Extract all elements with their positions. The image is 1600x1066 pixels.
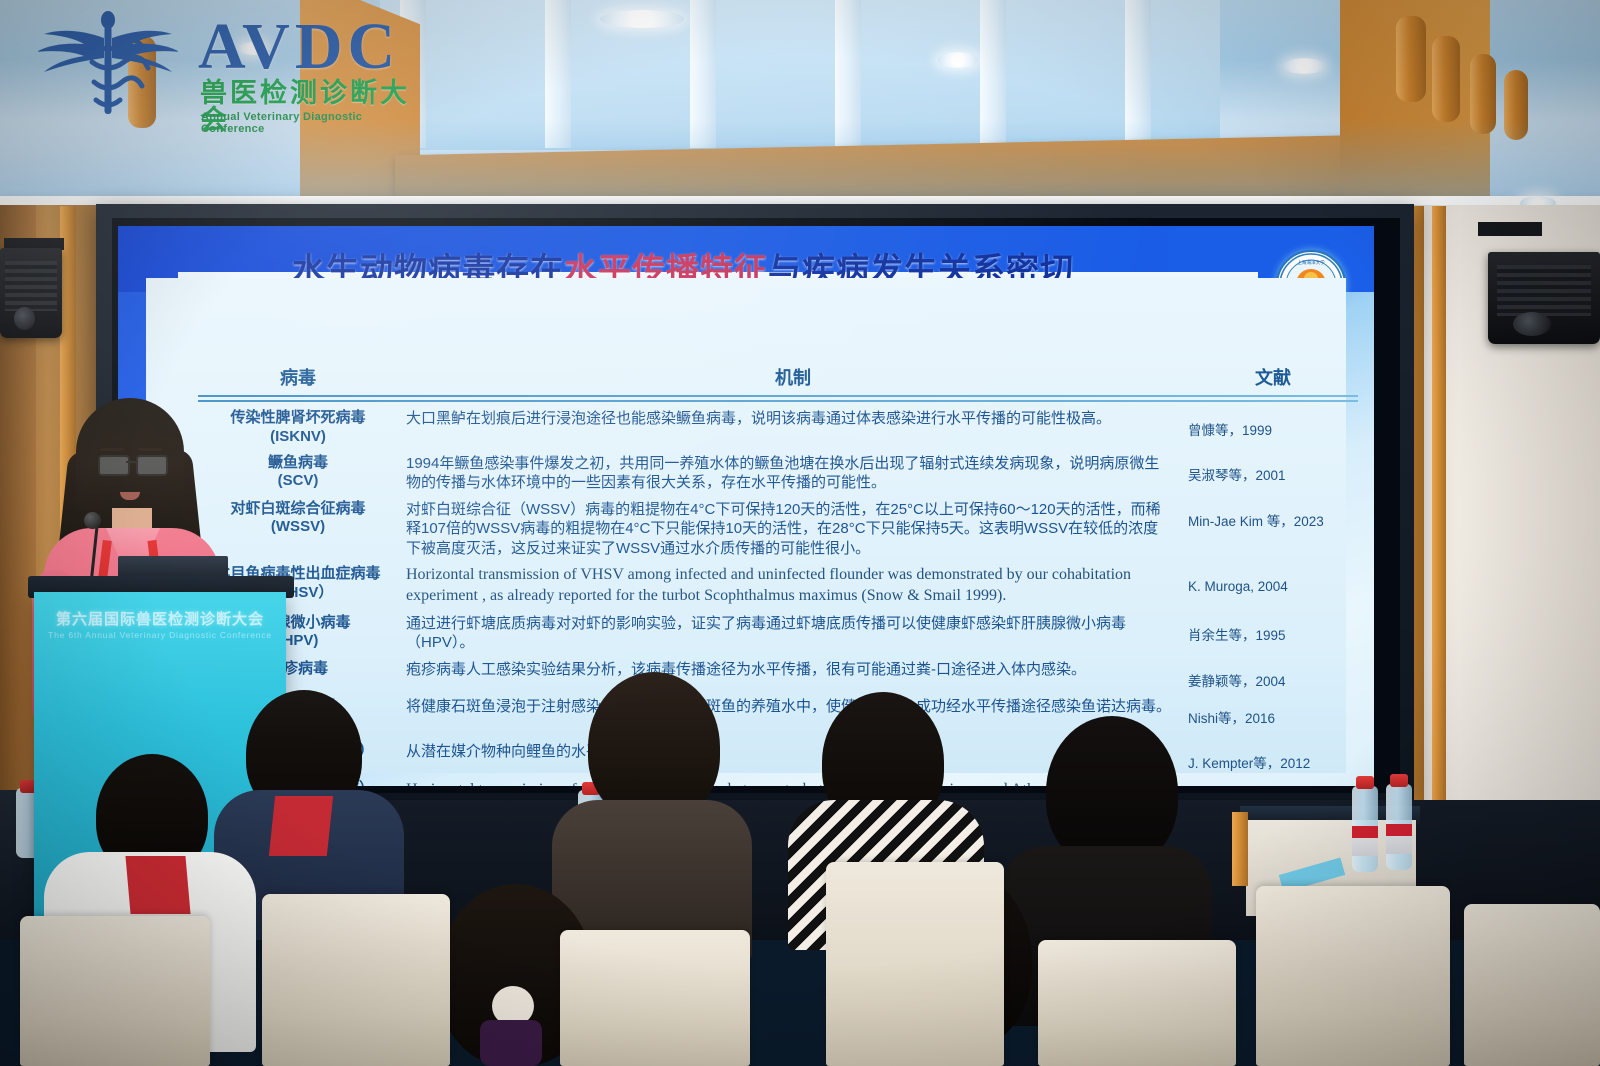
speaker-cone <box>14 307 35 330</box>
avdc-acronym: AVDC <box>198 14 400 80</box>
chair <box>1038 940 1236 1066</box>
table-header-row: 病毒 机制 文献 <box>198 364 1358 395</box>
cell-virus: 鳜鱼病毒(SCV) <box>198 454 398 492</box>
bottle-label <box>1352 826 1378 856</box>
ceiling-downlight <box>600 10 684 28</box>
cell-mechanism: 通过进行虾塘底质病毒对对虾的影响实验，证实了病毒通过虾塘底质传播可以使健康虾感染… <box>398 614 1180 653</box>
cell-virus: 对虾白斑综合征病毒(WSSV) <box>198 500 398 538</box>
conference-photo-scene: 水生动物病毒存在水平传播特征与疾病发生关系密切 上海海洋大学 SHANGHAI … <box>0 0 1600 1066</box>
cell-mechanism: 1994年鳜鱼感染事件爆发之初，共用同一养殖水体的鳜鱼池塘在换水后出现了辐射式连… <box>398 454 1180 493</box>
table-row: 肝胰腺微小病毒(HPV)通过进行虾塘底质病毒对对虾的影响实验，证实了病毒通过虾塘… <box>198 614 1358 653</box>
bottle-cap <box>1356 776 1374 789</box>
table-rule-top <box>198 395 1358 397</box>
column-header-virus: 病毒 <box>198 364 398 390</box>
table-row: 鳜鱼病毒(SCV)1994年鳜鱼感染事件爆发之初，共用同一养殖水体的鳜鱼池塘在换… <box>198 454 1358 493</box>
cell-mechanism: 疱疹病毒人工感染实验结果分析，该病毒传播途径为水平传播，很有可能通过粪-口途径进… <box>398 660 1180 680</box>
cell-mechanism: 对虾白斑综合征（WSSV）病毒的粗提物在4°C下可保持120天的活性，在25°C… <box>398 500 1180 559</box>
cell-virus: 传染性脾肾坏死病毒(ISKNV) <box>198 409 398 447</box>
avdc-english-name: Annual Veterinary Diagnostic Conference <box>201 111 418 135</box>
speaker-grill <box>5 261 57 311</box>
avdc-logo: AVDC 兽医检测诊断大会 Annual Veterinary Diagnost… <box>38 8 418 120</box>
cell-reference: 吴淑琴等，2001 <box>1180 454 1358 485</box>
eyeglasses-icon <box>136 455 168 476</box>
cell-mechanism: 将健康石斑鱼浸泡于注射感染鱼诺达病毒的石斑鱼的养殖水中，使健康石斑鱼成功经水平传… <box>398 697 1180 717</box>
virus-transmission-table: 病毒 机制 文献 传染性脾肾坏死病毒(ISKNV)大口黑鲈在划痕后进行浸泡途径也… <box>198 364 1358 786</box>
audience-torso <box>480 1020 542 1066</box>
cell-reference: Min-Jae Kim 等，2023 <box>1180 500 1358 531</box>
cell-reference: Kjetil Korsnes等，2012 <box>1180 780 1358 786</box>
bottle-cap <box>1390 774 1408 787</box>
speaker-bracket <box>1478 222 1542 236</box>
table-row: 锦鲤疱疹病毒（KHV）从潜在媒介物种向鲤鱼的水平传播J. Kempter等，20… <box>198 742 1358 773</box>
speaker-grill <box>1497 265 1591 317</box>
cell-reference: 肖余生等，1995 <box>1180 614 1358 645</box>
cell-reference: 曾慷等，1999 <box>1180 409 1358 440</box>
chair <box>1256 886 1450 1066</box>
chair <box>1464 904 1600 1066</box>
column-header-reference: 文献 <box>1188 364 1358 390</box>
bottle-label <box>1386 824 1412 854</box>
presenter-eyebrow <box>100 448 124 451</box>
ceiling-downlight <box>938 52 978 68</box>
table-body: 传染性脾肾坏死病毒(ISKNV)大口黑鲈在划痕后进行浸泡途径也能感染鳜鱼病毒，说… <box>198 409 1358 786</box>
chair <box>826 862 1004 1066</box>
ceiling-downlight <box>1283 58 1325 74</box>
svg-text:上海海洋大学: 上海海洋大学 <box>1297 259 1325 266</box>
audience-lanyard <box>125 856 190 914</box>
cell-reference: Nishi等，2016 <box>1180 697 1358 728</box>
eyeglasses-icon <box>98 455 130 476</box>
audience-lanyard <box>269 796 333 856</box>
podium-sign-english: The 6th Annual Veterinary Diagnostic Con… <box>34 630 286 640</box>
table-row: 对虾白斑综合征病毒(WSSV)对虾白斑综合征（WSSV）病毒的粗提物在4°C下可… <box>198 500 1358 559</box>
wall-speaker-right <box>1488 252 1600 344</box>
table-trim <box>1232 812 1248 886</box>
cell-reference: K. Muroga, 2004 <box>1180 565 1358 596</box>
cell-reference: 姜静颖等，2004 <box>1180 660 1358 691</box>
table-row: 疱疹病毒疱疹病毒人工感染实验结果分析，该病毒传播途径为水平传播，很有可能通过粪-… <box>198 660 1358 691</box>
podium-sign-chinese: 第六届国际兽医检测诊断大会 <box>34 608 286 629</box>
chair <box>262 894 450 1066</box>
table-rule-second <box>198 400 1358 402</box>
column-header-mechanism: 机制 <box>398 364 1188 390</box>
table-row: 鱼诺达病毒(Nodavirus)将健康石斑鱼浸泡于注射感染鱼诺达病毒的石斑鱼的养… <box>198 697 1358 735</box>
wall-speaker-left <box>0 248 62 338</box>
ceiling-tube-light <box>1432 36 1460 122</box>
speaker-cone <box>1513 312 1551 336</box>
table-row: 比目鱼病毒性出血症病毒（VHSV）Horizontal transmission… <box>198 565 1358 607</box>
cell-reference: J. Kempter等，2012 <box>1180 742 1358 773</box>
ceiling-tube-light <box>1396 16 1426 102</box>
chair <box>560 930 750 1066</box>
cell-mechanism: Horizontal transmission of VHSV among in… <box>398 565 1180 607</box>
cell-mechanism: 大口黑鲈在划痕后进行浸泡途径也能感染鳜鱼病毒，说明该病毒通过体表感染进行水平传播… <box>398 409 1180 429</box>
table-row: 神经坏死病毒（NNV）Horizontal transmission of ne… <box>198 780 1358 786</box>
eyeglasses-bridge <box>126 461 136 463</box>
chair <box>20 916 210 1066</box>
table-row: 传染性脾肾坏死病毒(ISKNV)大口黑鲈在划痕后进行浸泡途径也能感染鳜鱼病毒，说… <box>198 409 1358 447</box>
presenter-eyebrow <box>138 448 162 451</box>
caduceus-icon <box>38 8 178 120</box>
microphone-icon <box>84 512 101 529</box>
